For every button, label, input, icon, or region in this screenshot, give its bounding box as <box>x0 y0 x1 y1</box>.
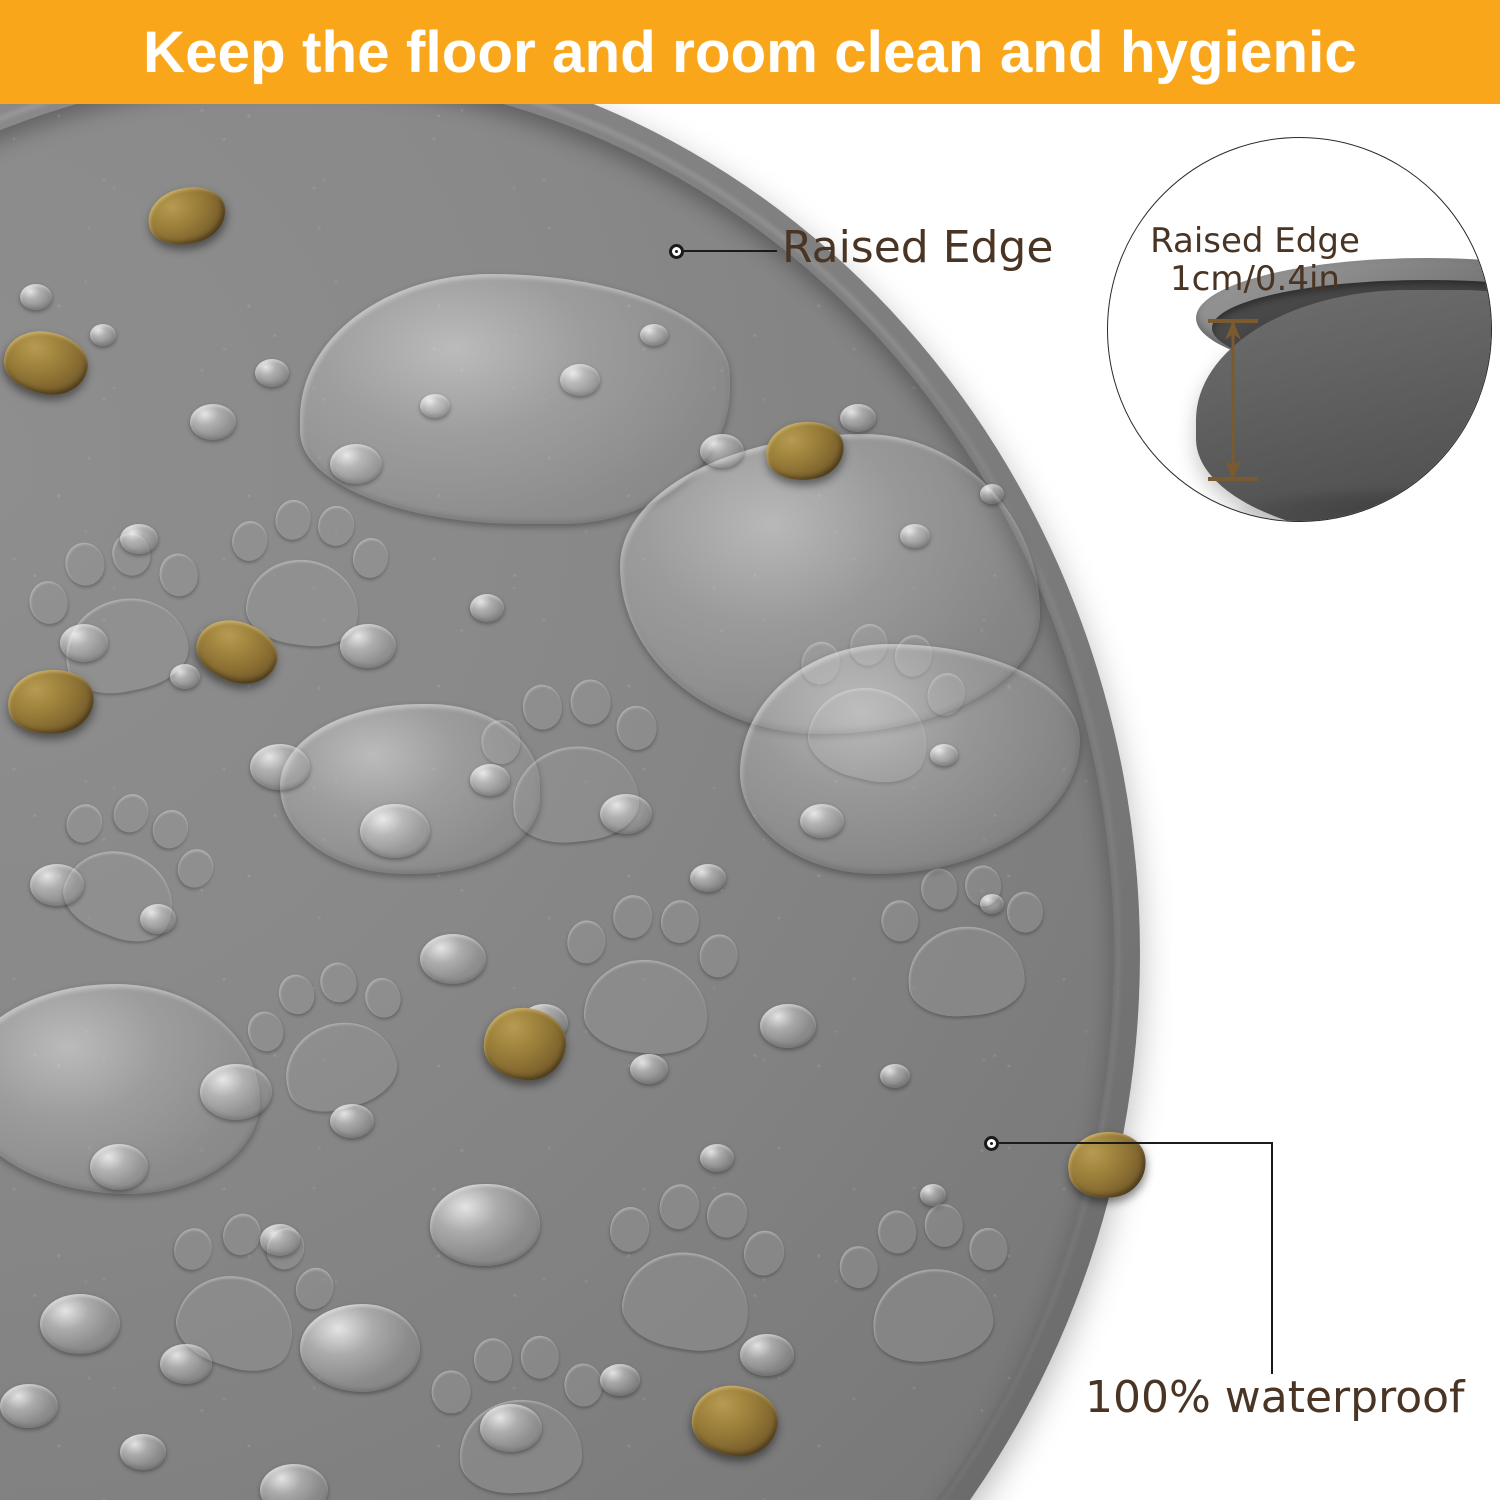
headline-banner: Keep the floor and room clean and hygien… <box>0 0 1500 104</box>
waterproof-leader-dot <box>984 1136 999 1151</box>
waterproof-leader-line-vertical <box>1271 1142 1273 1374</box>
raised-edge-label: Raised Edge <box>782 222 1053 273</box>
raised-edge-detail-inset: Raised Edge 1cm/0.4in <box>1107 137 1492 522</box>
inset-caption-line1: Raised Edge <box>1130 222 1380 260</box>
silicone-mat <box>0 104 1140 1500</box>
dimension-arrow-icon <box>1202 316 1264 484</box>
inset-caption-line2: 1cm/0.4in <box>1130 260 1380 298</box>
mat-surface <box>0 104 1114 1500</box>
inset-clip: Raised Edge 1cm/0.4in <box>1108 138 1491 521</box>
product-photo: Raised Edge 100% waterproof <box>0 104 1500 1500</box>
headline-text: Keep the floor and room clean and hygien… <box>143 19 1357 86</box>
inset-caption: Raised Edge 1cm/0.4in <box>1130 222 1380 298</box>
raised-edge-leader-dot <box>669 244 684 259</box>
product-feature-image: Keep the floor and room clean and hygien… <box>0 0 1500 1500</box>
waterproof-label: 100% waterproof <box>1085 1372 1465 1423</box>
